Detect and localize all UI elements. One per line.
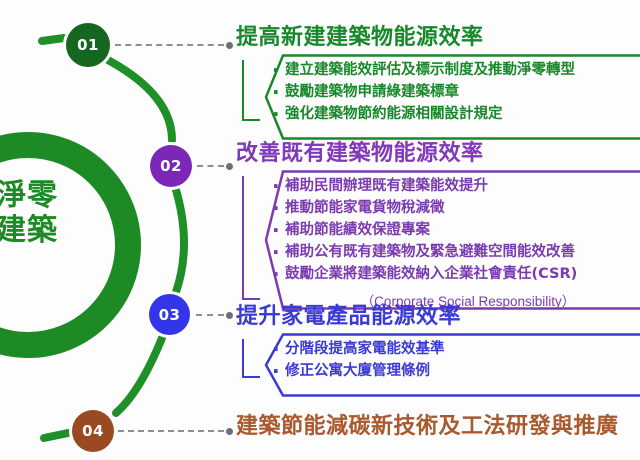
section-01-title: 提高新建建築物能源效率 (236, 26, 575, 50)
list-item: 補助節能績效保證專案 (285, 219, 577, 241)
stub-top (42, 38, 64, 41)
step-badge-04-label: 04 (82, 422, 104, 440)
step-badge-01[interactable]: 01 (66, 23, 110, 67)
connector-04-line (118, 430, 224, 432)
step-badge-03[interactable]: 03 (149, 294, 190, 335)
section-02-bullet-list: 補助民間辦理既有建築能效提升 推動節能家電貨物稅減徵 補助節能績效保證專案 補助… (263, 170, 577, 291)
connector-04-dot (226, 428, 233, 435)
connector-04 (118, 425, 233, 437)
connector-02-line (197, 165, 224, 167)
list-item: 鼓勵建築物申請綠建築標章 (285, 81, 575, 103)
section-03: 提升家電產品能源效率 分階段提高家電能效基準 修正公寓大廈管理條例 (236, 305, 461, 388)
stub-bottom (44, 433, 68, 438)
list-item: 分階段提高家電能效基準 (285, 338, 461, 360)
section-04: 建築節能減碳新技術及工法研發與推廣 (236, 415, 619, 439)
section-02-bullets-wrap: 補助民間辦理既有建築能效提升 推動節能家電貨物稅減徵 補助節能績效保證專案 補助… (263, 170, 577, 310)
connector-02 (197, 160, 233, 172)
step-badge-03-label: 03 (159, 306, 181, 324)
connector-02-dot (226, 163, 233, 170)
section-01-bracket-icon (242, 60, 260, 121)
section-01-body: 建立建築能效評估及標示制度及推動淨零轉型 鼓勵建築物申請綠建築標章 強化建築物節… (236, 54, 575, 131)
section-01: 提高新建建築物能源效率 建立建築能效評估及標示制度及推動淨零轉型 鼓勵建築物申請… (236, 26, 575, 131)
donut-ring (0, 145, 128, 345)
step-badge-02-label: 02 (160, 157, 182, 175)
net-zero-diagram (0, 0, 240, 460)
section-01-bullet-list: 建立建築能效評估及標示制度及推動淨零轉型 鼓勵建築物申請綠建築標章 強化建築物節… (263, 54, 575, 131)
list-item: 修正公寓大廈管理條例 (285, 360, 461, 382)
connector-03-line (196, 314, 224, 316)
section-03-title: 提升家電產品能源效率 (236, 305, 461, 329)
list-item: 強化建築物節約能源相關設計規定 (285, 103, 575, 125)
section-04-title: 建築節能減碳新技術及工法研發與推廣 (236, 415, 619, 439)
arc-01-02 (108, 60, 172, 140)
section-02: 改善既有建築物能源效率 補助民間辦理既有建築能效提升 推動節能家電貨物稅減徵 補… (236, 142, 577, 310)
connector-03 (196, 309, 233, 321)
list-item: 推動節能家電貨物稅減徵 (285, 197, 577, 219)
section-02-body: 補助民間辦理既有建築能效提升 推動節能家電貨物稅減徵 補助節能績效保證專案 補助… (236, 170, 577, 310)
list-item: 補助公有既有建築物及緊急避難空間能效改善 (285, 241, 577, 263)
section-03-bullets-wrap: 分階段提高家電能效基準 修正公寓大廈管理條例 (263, 333, 461, 388)
section-02-title: 改善既有建築物能源效率 (236, 142, 577, 166)
connector-03-dot (226, 312, 233, 319)
list-item: 建立建築能效評估及標示制度及推動淨零轉型 (285, 59, 575, 81)
connector-01 (115, 39, 233, 51)
step-badge-04[interactable]: 04 (72, 410, 114, 452)
connector-01-dot (226, 42, 233, 49)
arc-02-03 (176, 190, 184, 292)
section-01-bullets-wrap: 建立建築能效評估及標示制度及推動淨零轉型 鼓勵建築物申請綠建築標章 強化建築物節… (263, 54, 575, 131)
step-badge-02[interactable]: 02 (150, 145, 192, 187)
infographic-canvas: 淨零 建築 01 02 03 04 提高新建建築物能源效率 (0, 0, 640, 460)
arc-03-04 (116, 338, 162, 413)
list-item: 鼓勵企業將建築能效納入企業社會責任(CSR) (285, 263, 577, 285)
section-03-body: 分階段提高家電能效基準 修正公寓大廈管理條例 (236, 333, 461, 388)
section-02-bracket-icon (242, 176, 260, 300)
section-03-bullet-list: 分階段提高家電能效基準 修正公寓大廈管理條例 (263, 333, 461, 388)
step-badge-01-label: 01 (77, 36, 99, 54)
connector-01-line (115, 44, 224, 46)
list-item: 補助民間辦理既有建築能效提升 (285, 175, 577, 197)
section-03-bracket-icon (242, 339, 260, 378)
